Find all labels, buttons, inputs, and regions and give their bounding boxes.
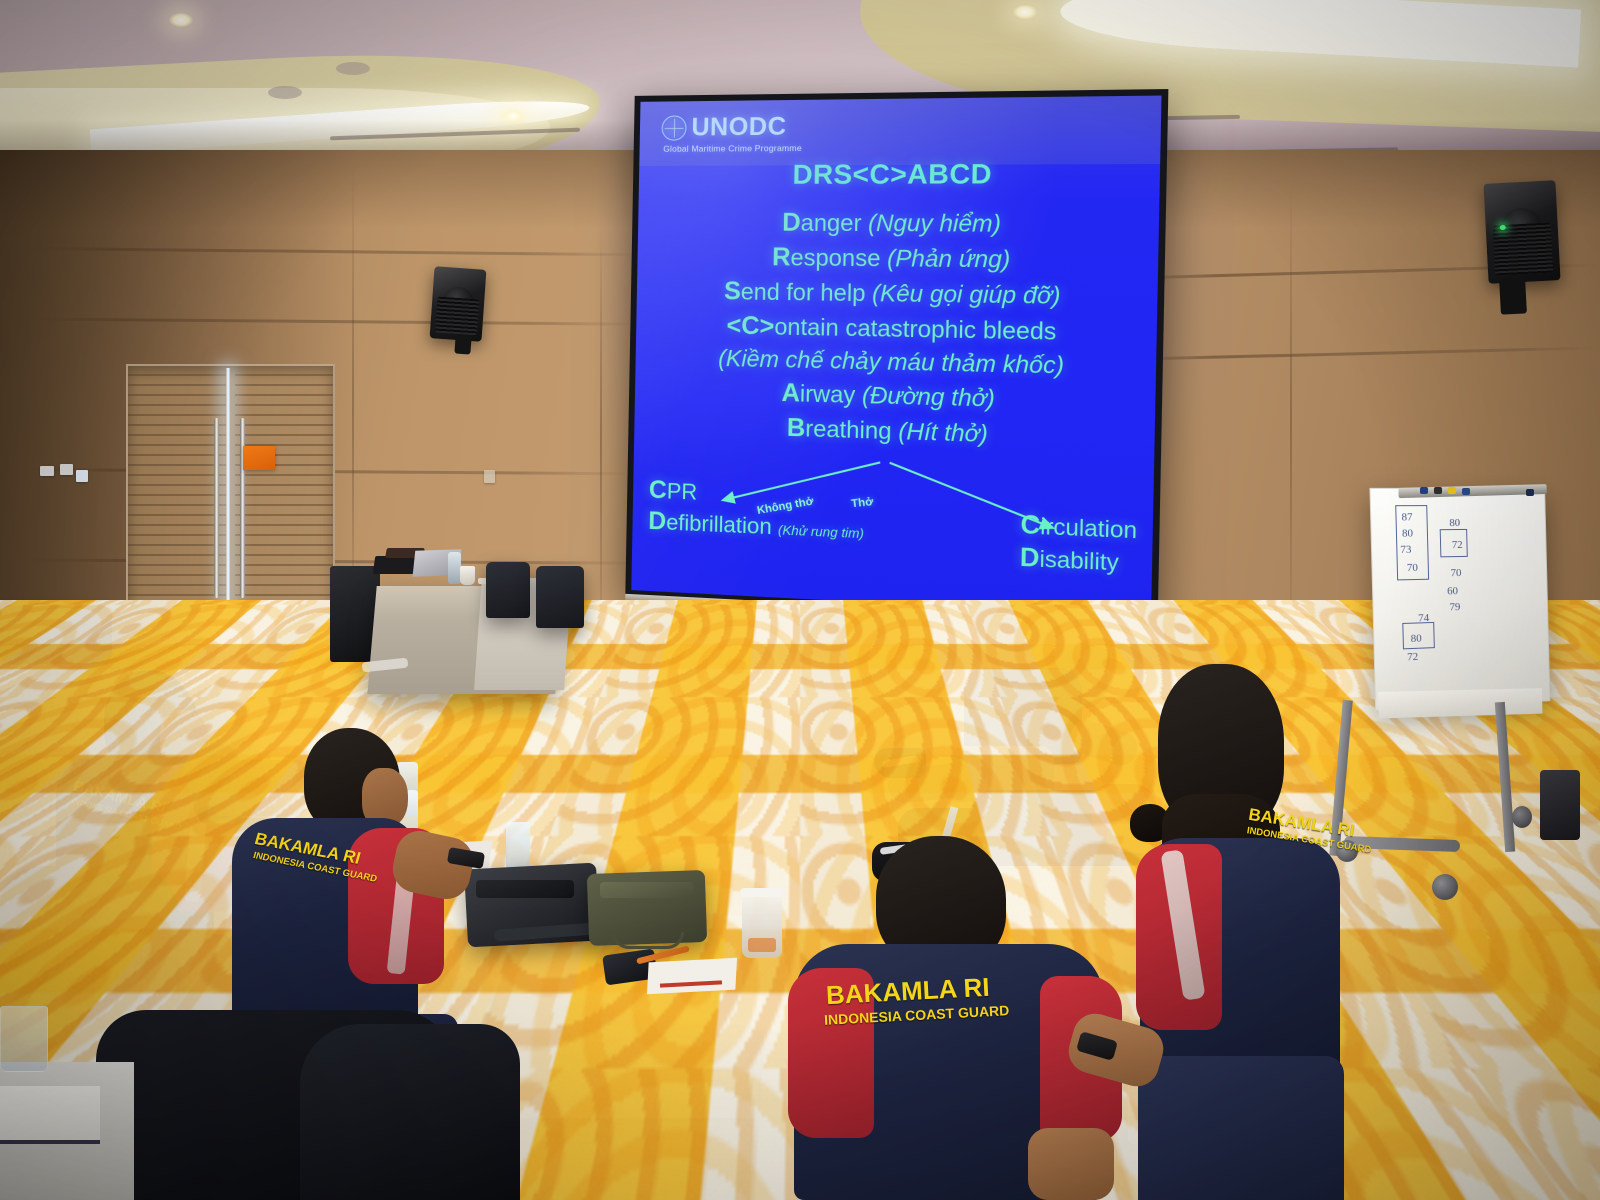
projected-slide: UNODC Global Maritime Crime Programme DR…: [631, 96, 1161, 617]
chair-back-1[interactable]: [486, 562, 530, 618]
word-disability: isability: [1039, 545, 1119, 575]
branch-left-items: CPR Defibrillation (Khử rung tim): [648, 475, 865, 546]
door-sign: [243, 446, 275, 470]
downlight-3: [1012, 4, 1038, 20]
initial-b: B: [787, 414, 806, 443]
flipchart-box-2: [1440, 529, 1468, 557]
translation-breathing: (Hít thở): [898, 418, 988, 448]
coffee-cup-av: [460, 566, 475, 585]
slide-title: DRS<C>ABCD: [639, 158, 1160, 191]
flipchart-box-1: [1395, 505, 1429, 580]
speaker-grill-left: [435, 297, 479, 336]
screen-frame: UNODC Global Maritime Crime Programme DR…: [625, 89, 1168, 623]
initial-d: D: [782, 208, 801, 237]
water-bottle-3: [506, 822, 530, 870]
notebook-mark: [0, 1098, 36, 1120]
marker-blue-2[interactable]: [1462, 488, 1470, 495]
translation-response: (Phản ứng): [887, 245, 1011, 273]
flipchart-paper: 87 80 73 70 80 72 70 60 79 74 80 72: [1369, 488, 1550, 711]
wall-switch-3[interactable]: [76, 470, 88, 482]
branch-diagram: Không thở Thở CPR Defibrillation (Khử ru…: [632, 452, 1154, 585]
unodc-logo: UNODC Global Maritime Crime Programme: [661, 114, 813, 154]
speaker-mount-right: [1499, 277, 1527, 314]
speaker-grill-right: [1493, 223, 1553, 276]
word-cpr: PR: [667, 479, 698, 505]
ceiling-vent-1: [336, 62, 370, 75]
marker-black[interactable]: [1434, 487, 1442, 494]
word-breathing: reathing: [805, 415, 892, 444]
wall-outlet[interactable]: [484, 470, 495, 483]
word-send: end for help: [741, 278, 866, 306]
word-danger: anger: [800, 209, 861, 236]
training-room-scene: UNODC Global Maritime Crime Programme DR…: [0, 0, 1600, 1200]
ceiling-vent-2: [268, 86, 302, 99]
flipchart-box-3: [1402, 622, 1435, 649]
backpack-panel: [476, 880, 574, 898]
unodc-wordmark: UNODC: [691, 114, 787, 140]
marker-yellow[interactable]: [1448, 487, 1456, 494]
initial-r: R: [772, 243, 791, 272]
word-contain: ontain catastrophic bleeds: [774, 313, 1056, 345]
downlight-1: [168, 12, 194, 28]
notepad-paper: [647, 958, 737, 995]
un-emblem-icon: [661, 115, 686, 140]
speaker-mount-left: [454, 335, 471, 354]
wall-switch-2[interactable]: [60, 464, 73, 475]
translation-send: (Kêu gọi giúp đỡ): [872, 280, 1061, 309]
translation-danger: (Nguy hiểm): [868, 209, 1001, 236]
programme-subtitle: Global Maritime Crime Programme: [663, 143, 813, 154]
branch-right-items: Circulation Disability: [1020, 509, 1138, 578]
word-response: esponse: [790, 244, 880, 271]
brown-bag: [214, 760, 306, 816]
cup-label: [748, 938, 776, 952]
marker-navy[interactable]: [1526, 489, 1534, 496]
wall-speaker-right: [1483, 180, 1560, 284]
word-circulation: irculation: [1040, 513, 1138, 543]
foreground-water-glass: [0, 1006, 48, 1072]
translation-defib: (Khử rung tim): [778, 522, 864, 541]
slide-line-danger: Danger (Nguy hiểm): [638, 205, 1159, 242]
slide-line-response: Response (Phản ứng): [637, 239, 1158, 278]
initial-d-dis: D: [1020, 543, 1040, 573]
flipchart-caster-back: [1512, 806, 1532, 828]
initial-c-cpr: C: [649, 476, 667, 505]
instructor-hair: [1054, 644, 1110, 670]
door-handle-left[interactable]: [214, 418, 219, 598]
initial-c-circ: C: [1020, 510, 1040, 540]
door-handle-right[interactable]: [240, 418, 245, 598]
word-defibrillation: efibrillation: [666, 509, 772, 539]
participant-right-lower: [1138, 1056, 1344, 1200]
duffel-bag-strap: [18, 612, 76, 620]
slide-content: DRS<C>ABCD Danger (Nguy hiểm) Response (…: [632, 158, 1160, 585]
initial-a: A: [781, 379, 800, 408]
plastic-cup-lid: [740, 888, 784, 897]
olive-bag-handle: [612, 932, 684, 949]
wall-switch-1[interactable]: [40, 466, 54, 476]
olive-bag-flap: [600, 882, 694, 898]
word-airway: irway: [800, 380, 856, 408]
initial-s: S: [724, 277, 741, 306]
tripod-stand: [1540, 770, 1580, 840]
foreground-person-head: [300, 1024, 520, 1200]
initial-d-defib: D: [648, 507, 666, 536]
wall-speaker-left: [430, 266, 487, 341]
branch-disability: Disability: [1020, 541, 1137, 578]
initial-c-bracket: <C>: [726, 311, 774, 340]
chair-back-2[interactable]: [536, 566, 584, 628]
branch-circulation: Circulation: [1020, 509, 1137, 546]
flipchart-lower-sheet: [1378, 688, 1542, 718]
wall-vseam-3: [1290, 180, 1292, 660]
participant-fg-arm: [1028, 1128, 1114, 1200]
marker-blue[interactable]: [1420, 487, 1428, 494]
translation-airway: (Đường thở): [862, 382, 995, 412]
wall-vseam-2: [600, 230, 602, 660]
projection-screen: UNODC Global Maritime Crime Programme DR…: [625, 89, 1168, 623]
flipchart-caster-right: [1432, 874, 1458, 900]
